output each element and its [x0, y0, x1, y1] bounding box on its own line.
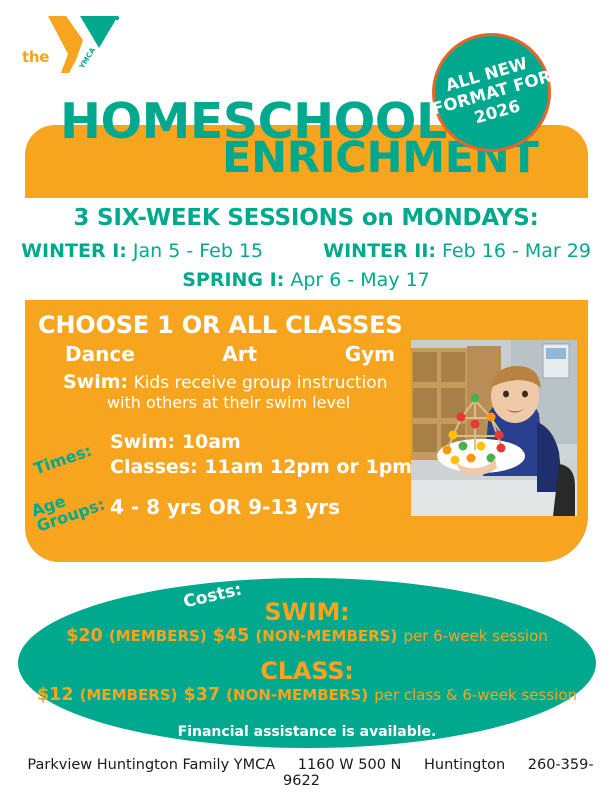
sessions-row-winter: WINTER I: Jan 5 - Feb 15 WINTER II: Feb … — [0, 237, 612, 266]
session-dates: Feb 16 - Mar 29 — [442, 240, 591, 262]
swim-cost-line: $20 (MEMBERS) $45 (NON-MEMBERS) per 6-we… — [18, 626, 596, 648]
swim-desc-1: Kids receive group instruction — [134, 373, 388, 393]
all-new-format-badge: ALL NEW FORMAT FOR 2026 — [432, 33, 551, 152]
sessions-heading: 3 SIX-WEEK SESSIONS on MONDAYS: — [0, 205, 612, 231]
class-member-price: $12 — [37, 685, 74, 705]
class-option-art: Art — [222, 342, 257, 366]
session-label: WINTER I: — [21, 240, 127, 262]
swim-label: Swim: — [63, 371, 128, 393]
session-dates: Jan 5 - Feb 15 — [133, 240, 263, 262]
ymca-logo: the YMCA — [20, 14, 126, 92]
financial-assistance-note: Financial assistance is available. — [18, 724, 596, 740]
class-cost-line: $12 (MEMBERS) $37 (NON-MEMBERS) per clas… — [18, 685, 596, 707]
costs-section: Costs: SWIM: $20 (MEMBERS) $45 (NON-MEMB… — [18, 578, 596, 748]
footer-org: Parkview Huntington Family YMCA — [27, 757, 275, 773]
class-cost-heading: CLASS: — [18, 659, 596, 685]
swim-member-note: (MEMBERS) — [109, 627, 207, 645]
class-option-gym: Gym — [345, 342, 395, 366]
swim-nonmember-note: (NON-MEMBERS) — [255, 627, 397, 645]
session-dates: Apr 6 - May 17 — [290, 269, 429, 291]
swim-member-price: $20 — [66, 626, 103, 646]
times-values: Swim: 10am Classes: 11am 12pm or 1pm — [110, 430, 412, 480]
footer-city: Huntington — [424, 757, 505, 773]
session-winter-1: WINTER I: Jan 5 - Feb 15 — [21, 237, 263, 266]
age-groups-label: Age Groups: — [30, 481, 108, 535]
swim-cost-heading: SWIM: — [18, 600, 596, 626]
costs-content: SWIM: $20 (MEMBERS) $45 (NON-MEMBERS) pe… — [18, 600, 596, 740]
session-spring-1: SPRING I: Apr 6 - May 17 — [0, 266, 612, 295]
class-member-note: (MEMBERS) — [80, 686, 178, 704]
times-swim: Swim: 10am — [110, 430, 412, 455]
program-photo — [411, 340, 577, 516]
swim-cost-tail: per 6-week session — [403, 627, 547, 645]
choose-classes-title: CHOOSE 1 OR ALL CLASSES — [38, 311, 402, 339]
session-label: SPRING I: — [182, 269, 284, 291]
age-groups-values: 4 - 8 yrs OR 9-13 yrs — [110, 495, 340, 519]
class-cost-tail: per class & 6-week session — [374, 686, 577, 704]
times-classes: Classes: 11am 12pm or 1pm — [110, 455, 412, 480]
sessions-section: 3 SIX-WEEK SESSIONS on MONDAYS: WINTER I… — [0, 205, 612, 296]
footer: Parkview Huntington Family YMCA 1160 W 5… — [0, 757, 612, 789]
swim-description-line1: Swim: Kids receive group instruction — [63, 371, 387, 393]
swim-desc-2: with others at their swim level — [107, 393, 350, 412]
class-option-dance: Dance — [65, 342, 135, 366]
times-label: Times: — [32, 443, 94, 478]
footer-address: 1160 W 500 N — [298, 757, 402, 773]
boy-holding-gumdrop-structure-photo — [411, 340, 577, 516]
class-nonmember-price: $37 — [184, 685, 221, 705]
session-winter-2: WINTER II: Feb 16 - Mar 29 — [323, 237, 591, 266]
session-label: WINTER II: — [323, 240, 436, 262]
class-options-row: Dance Art Gym — [65, 342, 395, 366]
class-nonmember-note: (NON-MEMBERS) — [226, 686, 368, 704]
swim-nonmember-price: $45 — [213, 626, 250, 646]
